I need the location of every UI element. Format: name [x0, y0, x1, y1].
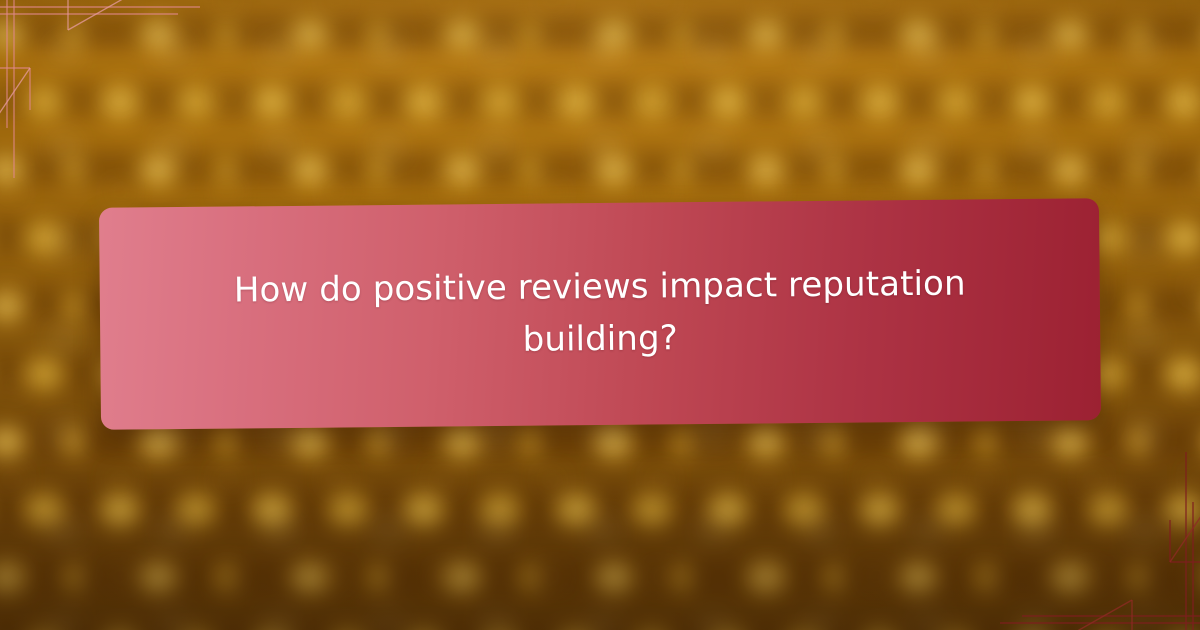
- screenshot-canvas: How do positive reviews impact reputatio…: [0, 0, 1200, 630]
- quote-card-wrapper: How do positive reviews impact reputatio…: [99, 198, 1101, 430]
- quote-text: How do positive reviews impact reputatio…: [190, 258, 1011, 369]
- quote-card[interactable]: How do positive reviews impact reputatio…: [99, 198, 1101, 430]
